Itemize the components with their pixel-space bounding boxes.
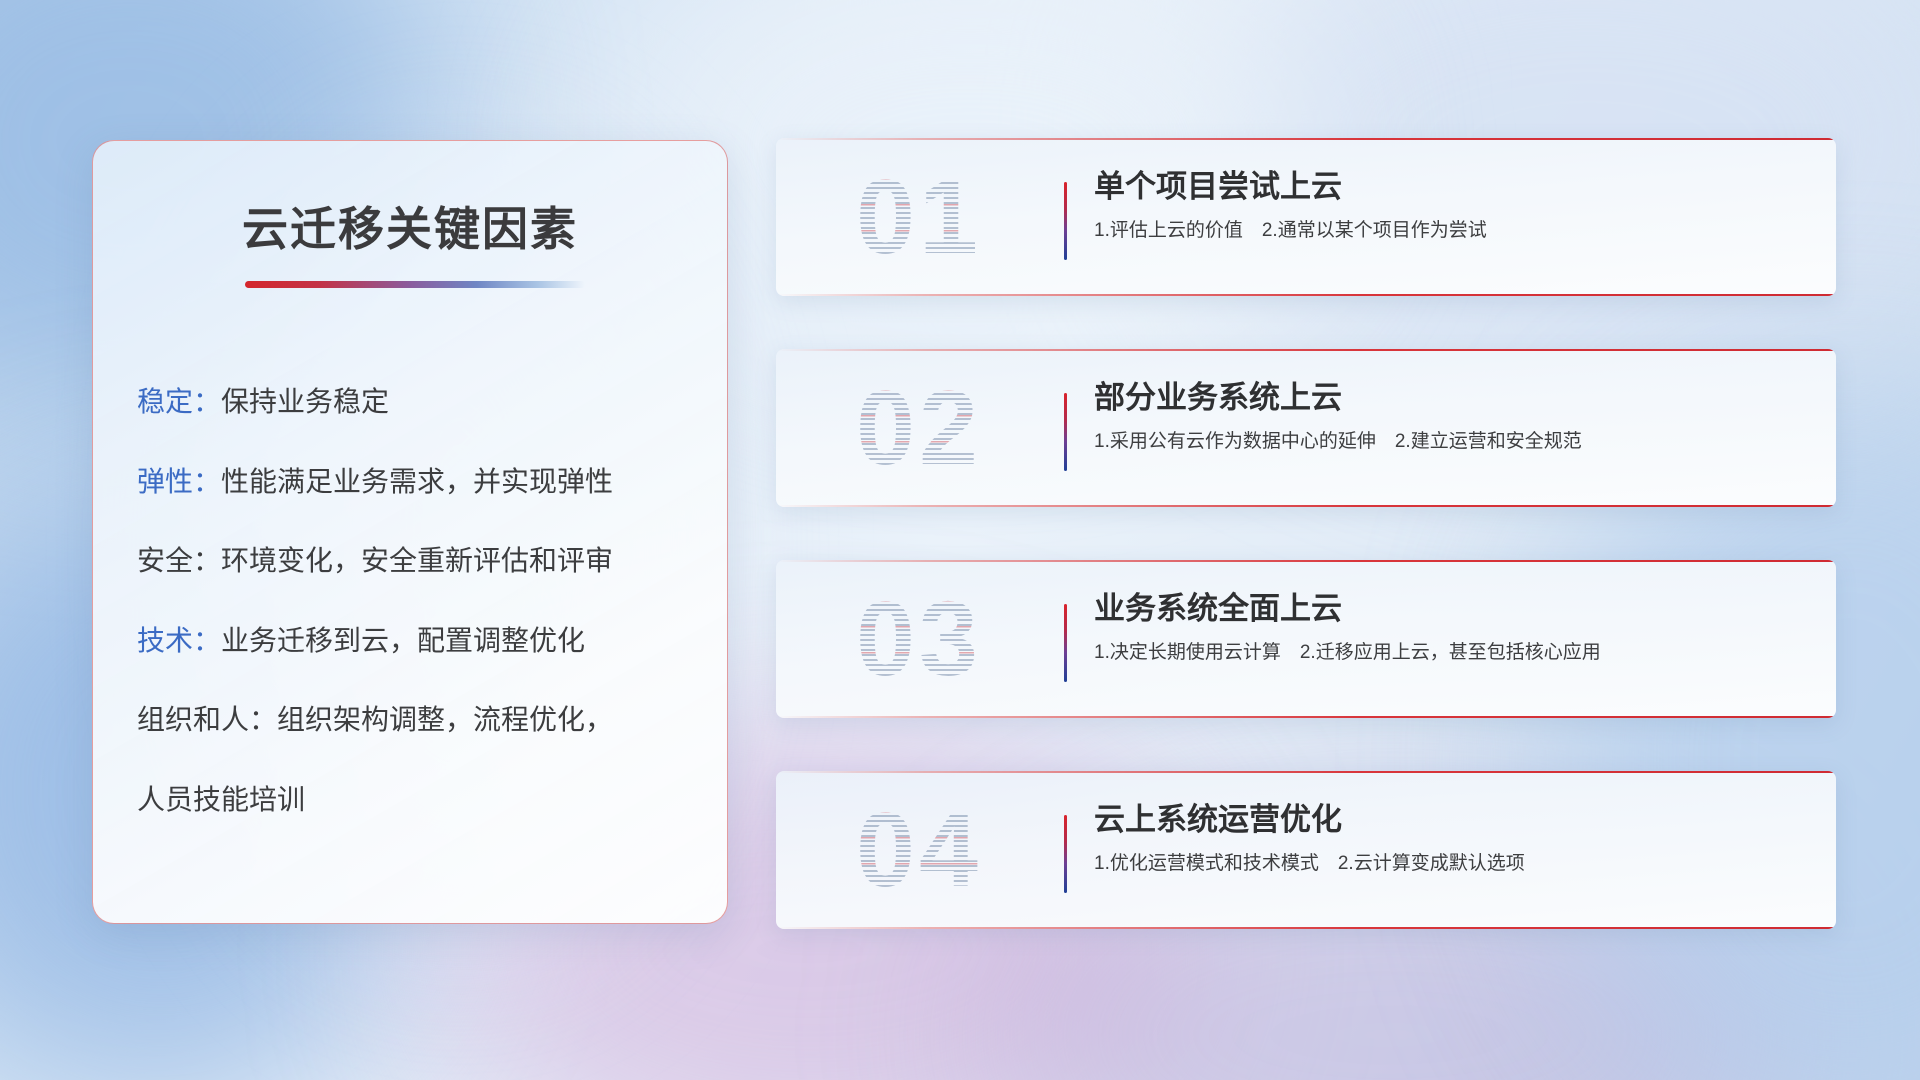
list-item-text: 业务迁移到云，配置调整优化: [221, 625, 585, 656]
stage-number-tint: 02: [814, 363, 1024, 493]
list-item-text: 环境变化，安全重新评估和评审: [221, 545, 613, 576]
list-item: 组织和人：组织架构调整，流程优化，: [137, 703, 697, 737]
stage-number-tint: 01: [814, 152, 1024, 282]
stage-title: 业务系统全面上云: [1094, 590, 1812, 629]
list-item-text: 组织架构调整，流程优化，: [277, 704, 613, 735]
stage-title: 部分业务系统上云: [1094, 379, 1812, 418]
stage-number-tint: 04: [814, 785, 1024, 915]
divider-bar: [1064, 393, 1067, 471]
list-item-text: 保持业务稳定: [221, 386, 389, 417]
list-item-label: 稳定：: [137, 386, 221, 417]
stage-title: 云上系统运营优化: [1094, 801, 1812, 840]
stage-description: 1.决定长期使用云计算 2.迁移应用上云，甚至包括核心应用: [1094, 641, 1812, 666]
list-item-label: 弹性：: [137, 466, 221, 497]
divider-bar: [1064, 815, 1067, 893]
stage-card[interactable]: 01 01 单个项目尝试上云 1.评估上云的价值 2.通常以某个项目作为尝试: [776, 138, 1836, 296]
stage-body: 云上系统运营优化 1.优化运营模式和技术模式 2.云计算变成默认选项: [1094, 801, 1812, 876]
list-item-label: 安全：: [137, 545, 221, 576]
key-factors-list: 稳定：保持业务稳定 弹性：性能满足业务需求，并实现弹性 安全：环境变化，安全重新…: [137, 385, 697, 817]
list-item: 技术：业务迁移到云，配置调整优化: [137, 624, 697, 658]
page-title: 云迁移关键因素: [93, 193, 727, 259]
list-item: 弹性：性能满足业务需求，并实现弹性: [137, 465, 697, 499]
list-item: 安全：环境变化，安全重新评估和评审: [137, 544, 697, 578]
stage-description: 1.评估上云的价值 2.通常以某个项目作为尝试: [1094, 219, 1812, 244]
stage-title: 单个项目尝试上云: [1094, 168, 1812, 207]
stage-description: 1.优化运营模式和技术模式 2.云计算变成默认选项: [1094, 852, 1812, 877]
stage-card[interactable]: 02 02 部分业务系统上云 1.采用公有云作为数据中心的延伸 2.建立运营和安…: [776, 349, 1836, 507]
stage-description: 1.采用公有云作为数据中心的延伸 2.建立运营和安全规范: [1094, 430, 1812, 455]
stage-body: 业务系统全面上云 1.决定长期使用云计算 2.迁移应用上云，甚至包括核心应用: [1094, 590, 1812, 665]
stage-body: 部分业务系统上云 1.采用公有云作为数据中心的延伸 2.建立运营和安全规范: [1094, 379, 1812, 454]
list-item: 稳定：保持业务稳定: [137, 385, 697, 419]
stage-card[interactable]: 03 03 业务系统全面上云 1.决定长期使用云计算 2.迁移应用上云，甚至包括…: [776, 560, 1836, 718]
stage-number-tint: 03: [814, 574, 1024, 704]
list-item-label: 技术：: [137, 625, 221, 656]
title-underline-rule: [245, 281, 585, 288]
stage-body: 单个项目尝试上云 1.评估上云的价值 2.通常以某个项目作为尝试: [1094, 168, 1812, 243]
divider-bar: [1064, 182, 1067, 260]
list-item-label: 组织和人：: [137, 704, 277, 735]
stage-card[interactable]: 04 04 云上系统运营优化 1.优化运营模式和技术模式 2.云计算变成默认选项: [776, 771, 1836, 929]
key-factors-panel: 云迁移关键因素 稳定：保持业务稳定 弹性：性能满足业务需求，并实现弹性 安全：环…: [92, 140, 728, 924]
list-item-continuation: 人员技能培训: [137, 783, 697, 817]
divider-bar: [1064, 604, 1067, 682]
stage-cards: 01 01 单个项目尝试上云 1.评估上云的价值 2.通常以某个项目作为尝试 0…: [776, 138, 1836, 929]
list-item-text: 性能满足业务需求，并实现弹性: [221, 466, 613, 497]
list-item-text: 人员技能培训: [137, 784, 305, 815]
